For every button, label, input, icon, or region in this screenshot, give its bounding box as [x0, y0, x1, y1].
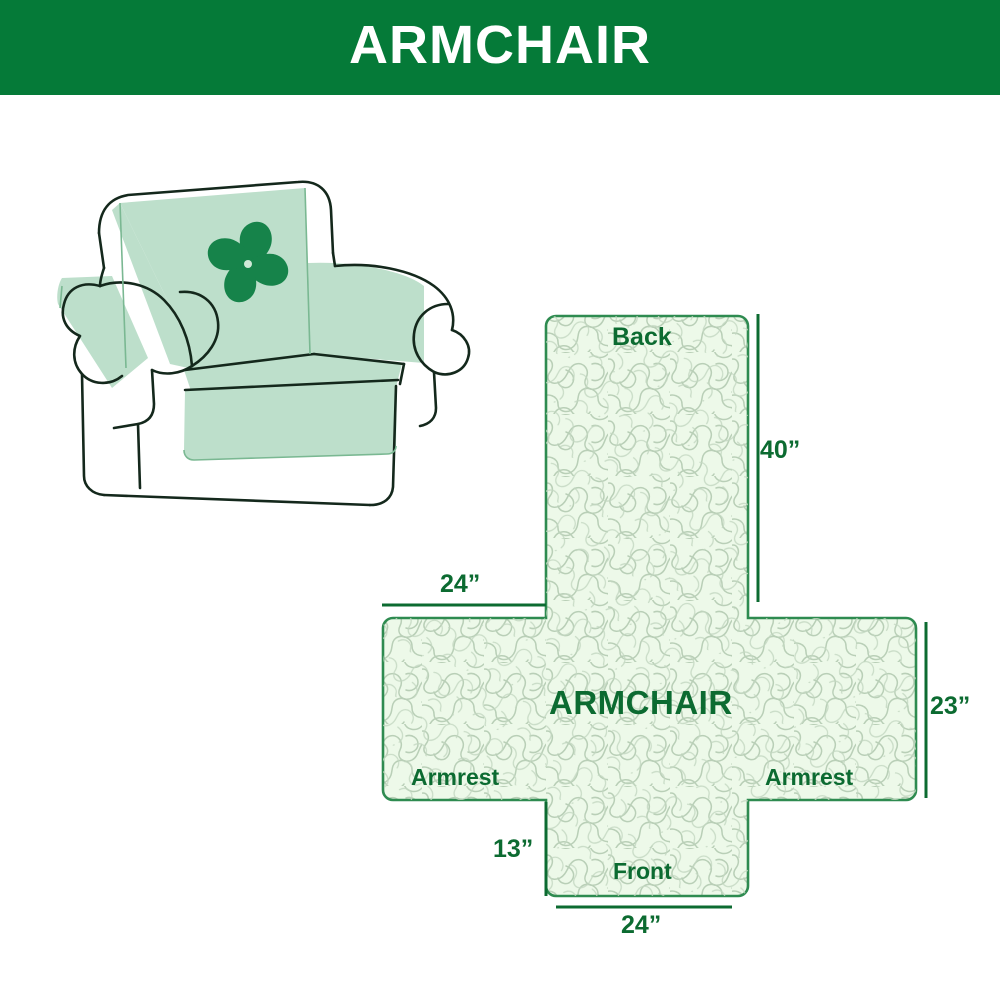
- panel-label-back: Back: [612, 325, 672, 350]
- cover-pattern-svg: [360, 290, 1000, 950]
- dimension-label-front-height: 13”: [493, 837, 533, 862]
- product-dimension-infographic: ARMCHAIR: [0, 0, 1000, 1000]
- dimension-label-back-height: 40”: [760, 438, 800, 463]
- dimension-label-armrest-height: 23”: [930, 694, 970, 719]
- page-title: ARMCHAIR: [349, 18, 651, 72]
- pattern-center-label: ARMCHAIR: [549, 686, 733, 719]
- panel-label-armrest-left: Armrest: [411, 766, 499, 789]
- dimension-label-back-width: 24”: [440, 572, 480, 597]
- cover-pattern-diagram: [360, 290, 1000, 950]
- dimension-label-front-width: 24”: [621, 913, 661, 938]
- panel-label-front: Front: [613, 860, 672, 883]
- panel-label-armrest-right: Armrest: [765, 766, 853, 789]
- page-header: ARMCHAIR: [0, 0, 1000, 95]
